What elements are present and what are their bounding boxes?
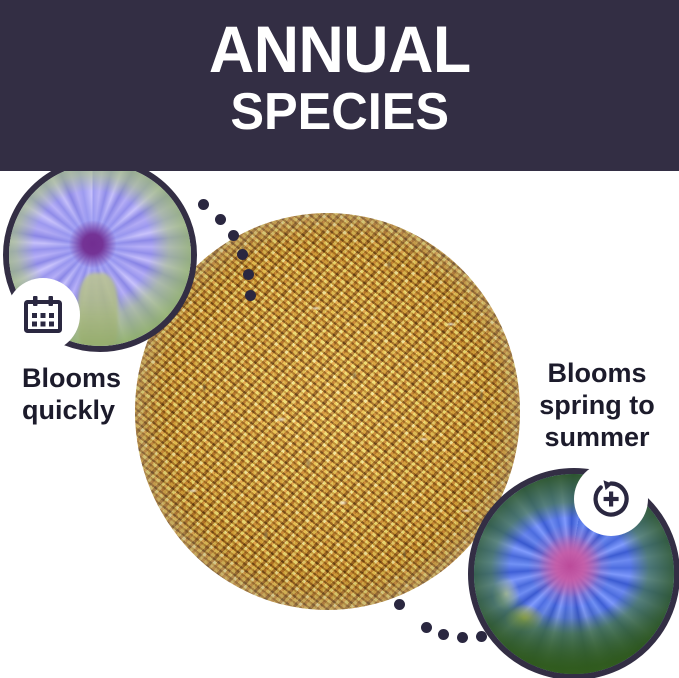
caption-line: Blooms <box>522 357 672 389</box>
connector-dot <box>243 269 254 280</box>
caption-line: quickly <box>22 394 202 426</box>
connector-dot <box>245 290 256 301</box>
caption-line: summer <box>522 421 672 453</box>
connector-dot <box>198 199 209 210</box>
connector-dot <box>421 622 432 633</box>
connector-dot <box>215 214 226 225</box>
caption-line: Blooms <box>22 362 202 394</box>
calendar-icon <box>21 293 65 337</box>
page-title: ANNUAL <box>209 16 471 82</box>
caption-blooms-spring-to-summer: Blooms spring to summer <box>522 357 672 453</box>
connector-dot <box>237 249 248 260</box>
connector-dot <box>394 599 405 610</box>
infographic-canvas: Blooms quickly Blooms spring to summer A… <box>0 0 679 678</box>
rotate-plus-icon-badge <box>574 462 648 536</box>
rotate-plus-icon <box>588 476 634 522</box>
calendar-icon-badge <box>6 278 80 352</box>
connector-dot <box>457 632 468 643</box>
connector-dot <box>228 230 239 241</box>
caption-blooms-quickly: Blooms quickly <box>22 362 202 426</box>
caption-line: spring to <box>522 389 672 421</box>
header-banner: ANNUAL SPECIES <box>0 0 679 171</box>
page-subtitle: SPECIES <box>230 84 449 140</box>
connector-dot <box>438 629 449 640</box>
